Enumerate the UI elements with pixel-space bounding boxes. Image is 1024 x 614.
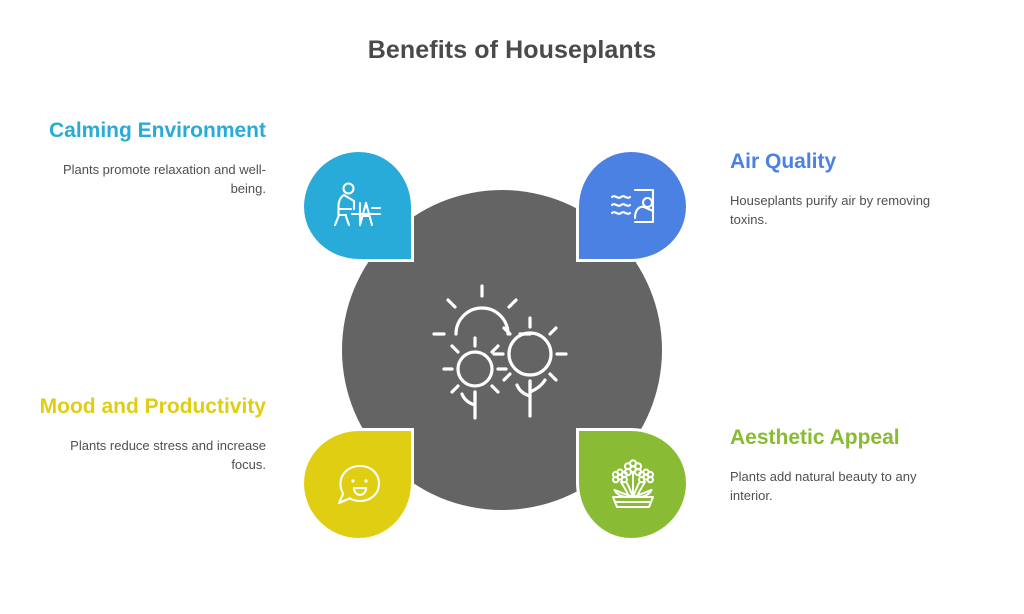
text-block-mood-productivity: Mood and Productivity Plants reduce stre… (34, 392, 266, 474)
smiling-speech-bubble-icon (330, 457, 386, 513)
blob-mood-productivity[interactable] (304, 428, 414, 538)
blob-aesthetic-appeal[interactable] (576, 428, 686, 538)
person-at-picnic-table-icon (330, 178, 386, 234)
blob-air-quality[interactable] (576, 152, 686, 262)
flowers-sun-icon (432, 272, 572, 422)
air-purifier-window-icon (605, 178, 661, 234)
description-calming-environment: Plants promote relaxation and well-being… (34, 160, 266, 198)
heading-air-quality: Air Quality (730, 147, 962, 177)
description-mood-productivity: Plants reduce stress and increase focus. (34, 436, 266, 474)
text-block-air-quality: Air Quality Houseplants purify air by re… (730, 147, 962, 229)
page-title: Benefits of Houseplants (0, 36, 1024, 65)
infographic-canvas: Benefits of Houseplants (0, 0, 1024, 614)
text-block-aesthetic-appeal: Aesthetic Appeal Plants add natural beau… (730, 423, 962, 505)
description-aesthetic-appeal: Plants add natural beauty to any interio… (730, 467, 962, 505)
heading-calming-environment: Calming Environment (34, 116, 266, 146)
description-air-quality: Houseplants purify air by removing toxin… (730, 191, 962, 229)
potted-flowers-icon (605, 457, 661, 513)
text-block-calming-environment: Calming Environment Plants promote relax… (34, 116, 266, 198)
blob-calming-environment[interactable] (304, 152, 414, 262)
heading-aesthetic-appeal: Aesthetic Appeal (730, 423, 962, 453)
heading-mood-productivity: Mood and Productivity (34, 392, 266, 422)
